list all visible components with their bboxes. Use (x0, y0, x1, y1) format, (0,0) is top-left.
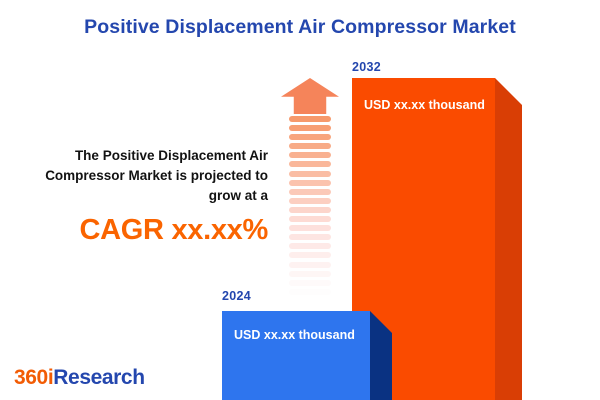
bar-2024-side-face (370, 311, 392, 400)
arrow-stripe (289, 161, 331, 167)
arrow-stripe (289, 134, 331, 140)
arrow-shaft (289, 116, 331, 306)
page-title: Positive Displacement Air Compressor Mar… (0, 16, 600, 39)
growth-arrow-icon (281, 78, 339, 306)
cagr-value: CAGR xx.xx% (36, 214, 268, 247)
arrow-stripe (289, 198, 331, 204)
arrow-stripe (289, 225, 331, 231)
arrow-stripe (289, 271, 331, 277)
arrow-stripe (289, 243, 331, 249)
bar-2032-side-face (495, 78, 522, 400)
arrow-head-icon (281, 78, 339, 114)
arrow-stripe (289, 116, 331, 122)
bar-2024-value-label: USD xx.xx thousand (234, 328, 355, 342)
bar-2032-value-label: USD xx.xx thousand (364, 98, 485, 112)
arrow-stripe (289, 143, 331, 149)
arrow-stripe (289, 125, 331, 131)
arrow-stripe (289, 234, 331, 240)
arrow-stripe (289, 207, 331, 213)
arrow-stripe (289, 216, 331, 222)
bar-2024-front-face (222, 311, 370, 400)
arrow-stripe (289, 171, 331, 177)
bar-2032-year-label: 2032 (352, 60, 381, 74)
arrow-stripe (289, 262, 331, 268)
brand-logo: 360iResearch (14, 366, 145, 390)
growth-statement-text: The Positive Displacement Air Compressor… (36, 146, 268, 206)
arrow-stripe (289, 152, 331, 158)
arrow-stripe (289, 280, 331, 286)
arrow-stripe (289, 289, 331, 295)
arrow-stripe (289, 252, 331, 258)
bar-2024-year-label: 2024 (222, 289, 251, 303)
logo-prefix: 360i (14, 366, 53, 389)
market-infographic: Positive Displacement Air Compressor Mar… (0, 0, 600, 400)
arrow-stripe (289, 189, 331, 195)
logo-suffix: Research (53, 366, 144, 389)
arrow-stripe (289, 180, 331, 186)
growth-statement: The Positive Displacement Air Compressor… (36, 146, 268, 247)
